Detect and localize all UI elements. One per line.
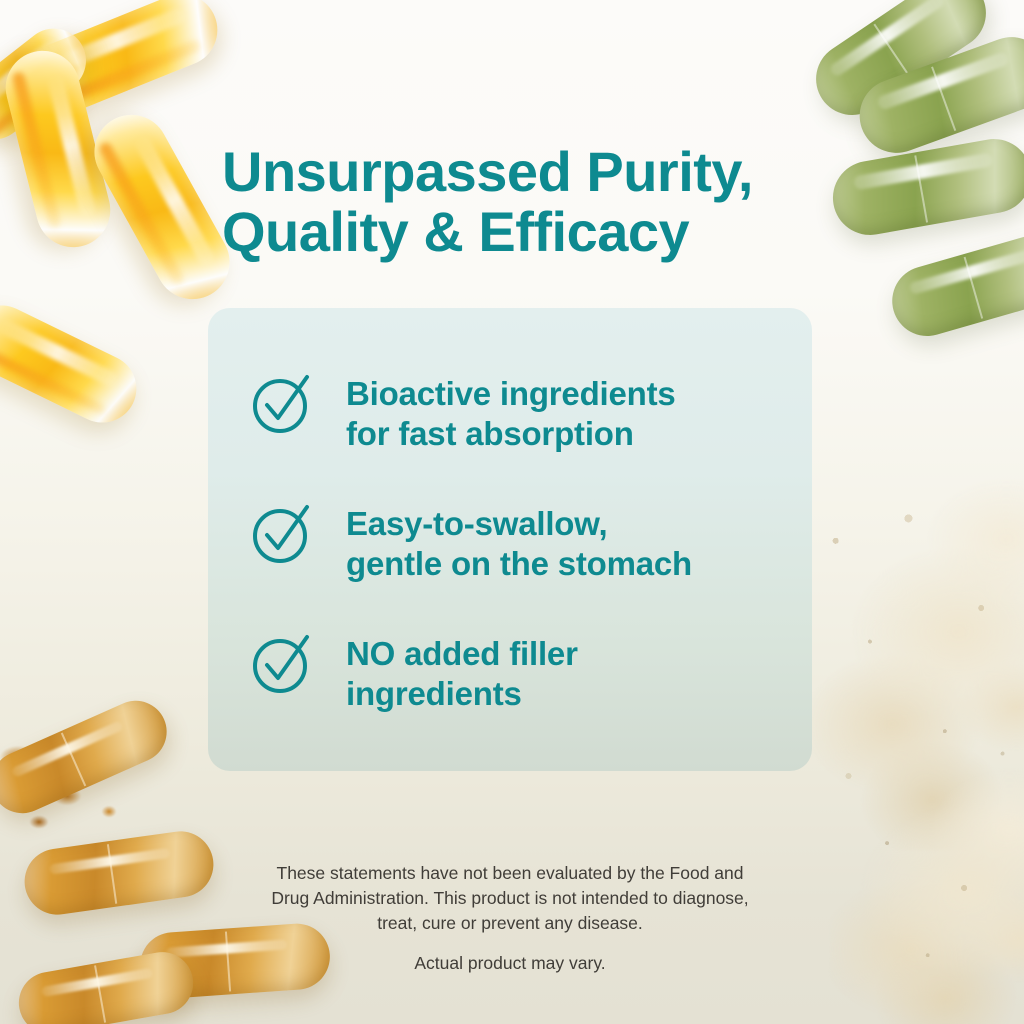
- fda-disclaimer: These statements have not been evaluated…: [208, 861, 812, 937]
- green-capsule-icon: [827, 133, 1024, 241]
- benefit-label: NO added filler ingredients: [346, 624, 578, 713]
- softgel-capsule-icon: [16, 0, 228, 125]
- benefit-label: Bioactive ingredients for fast absorptio…: [346, 364, 676, 453]
- check-circle-icon: [248, 626, 320, 698]
- check-circle-icon: [248, 366, 320, 438]
- green-capsule-icon: [802, 0, 1000, 129]
- benefit-item: NO added filler ingredients: [248, 624, 578, 713]
- benefits-card: Bioactive ingredients for fast absorptio…: [208, 308, 812, 771]
- turmeric-capsule-icon: [14, 947, 198, 1024]
- turmeric-capsule-icon: [0, 691, 177, 823]
- product-variation-note: Actual product may vary.: [208, 951, 812, 976]
- page-title: Unsurpassed Purity, Quality & Efficacy: [222, 142, 822, 263]
- benefit-label: Easy-to-swallow, gentle on the stomach: [346, 494, 692, 583]
- promo-graphic: Unsurpassed Purity, Quality & Efficacy B…: [0, 0, 1024, 1024]
- benefit-item: Bioactive ingredients for fast absorptio…: [248, 364, 676, 453]
- green-capsule-icon: [849, 27, 1024, 164]
- turmeric-powder-spill-icon: [0, 718, 130, 848]
- softgel-capsule-icon: [0, 43, 118, 255]
- green-capsule-icon: [884, 226, 1024, 345]
- protein-powder-pile-icon: [800, 430, 1024, 850]
- softgel-capsule-icon: [0, 294, 148, 434]
- softgel-capsule-icon: [81, 102, 243, 313]
- benefit-item: Easy-to-swallow, gentle on the stomach: [248, 494, 692, 583]
- powder-grain-texture-icon: [810, 440, 1024, 1000]
- softgel-capsule-icon: [0, 16, 99, 153]
- turmeric-capsule-icon: [20, 827, 217, 919]
- protein-powder-pile-icon: [830, 760, 1024, 1024]
- check-circle-icon: [248, 496, 320, 568]
